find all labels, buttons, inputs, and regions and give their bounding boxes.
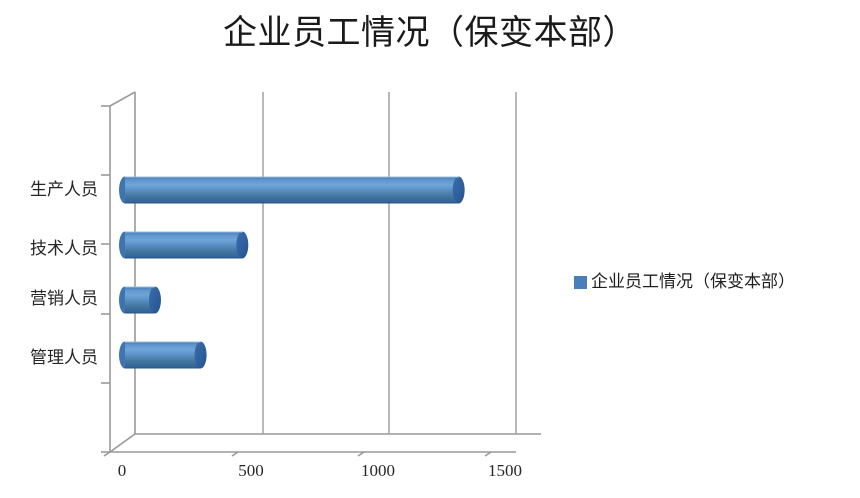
legend-swatch-icon [574,276,587,289]
x-tick-label-3: 1500 [465,460,545,482]
category-label-2: 营销人员 [2,289,98,309]
x-tick-label-0: 0 [82,460,162,482]
axis-frame [110,92,541,452]
chart-plot-area: 生产人员 技术人员 营销人员 管理人员 0 500 1000 1500 企业员工… [0,0,860,498]
x-tick-label-2: 1000 [338,460,418,482]
bar-series [119,177,465,369]
category-label-1: 技术人员 [2,239,98,259]
gridlines [263,92,516,434]
chart-legend: 企业员工情况（保变本部） [574,272,795,292]
category-axis-ticks [101,106,110,452]
chart-canvas [0,0,860,498]
category-label-3: 管理人员 [2,348,98,368]
x-tick-label-1: 500 [211,460,291,482]
category-label-0: 生产人员 [2,180,98,200]
legend-label-0: 企业员工情况（保变本部） [591,272,795,292]
